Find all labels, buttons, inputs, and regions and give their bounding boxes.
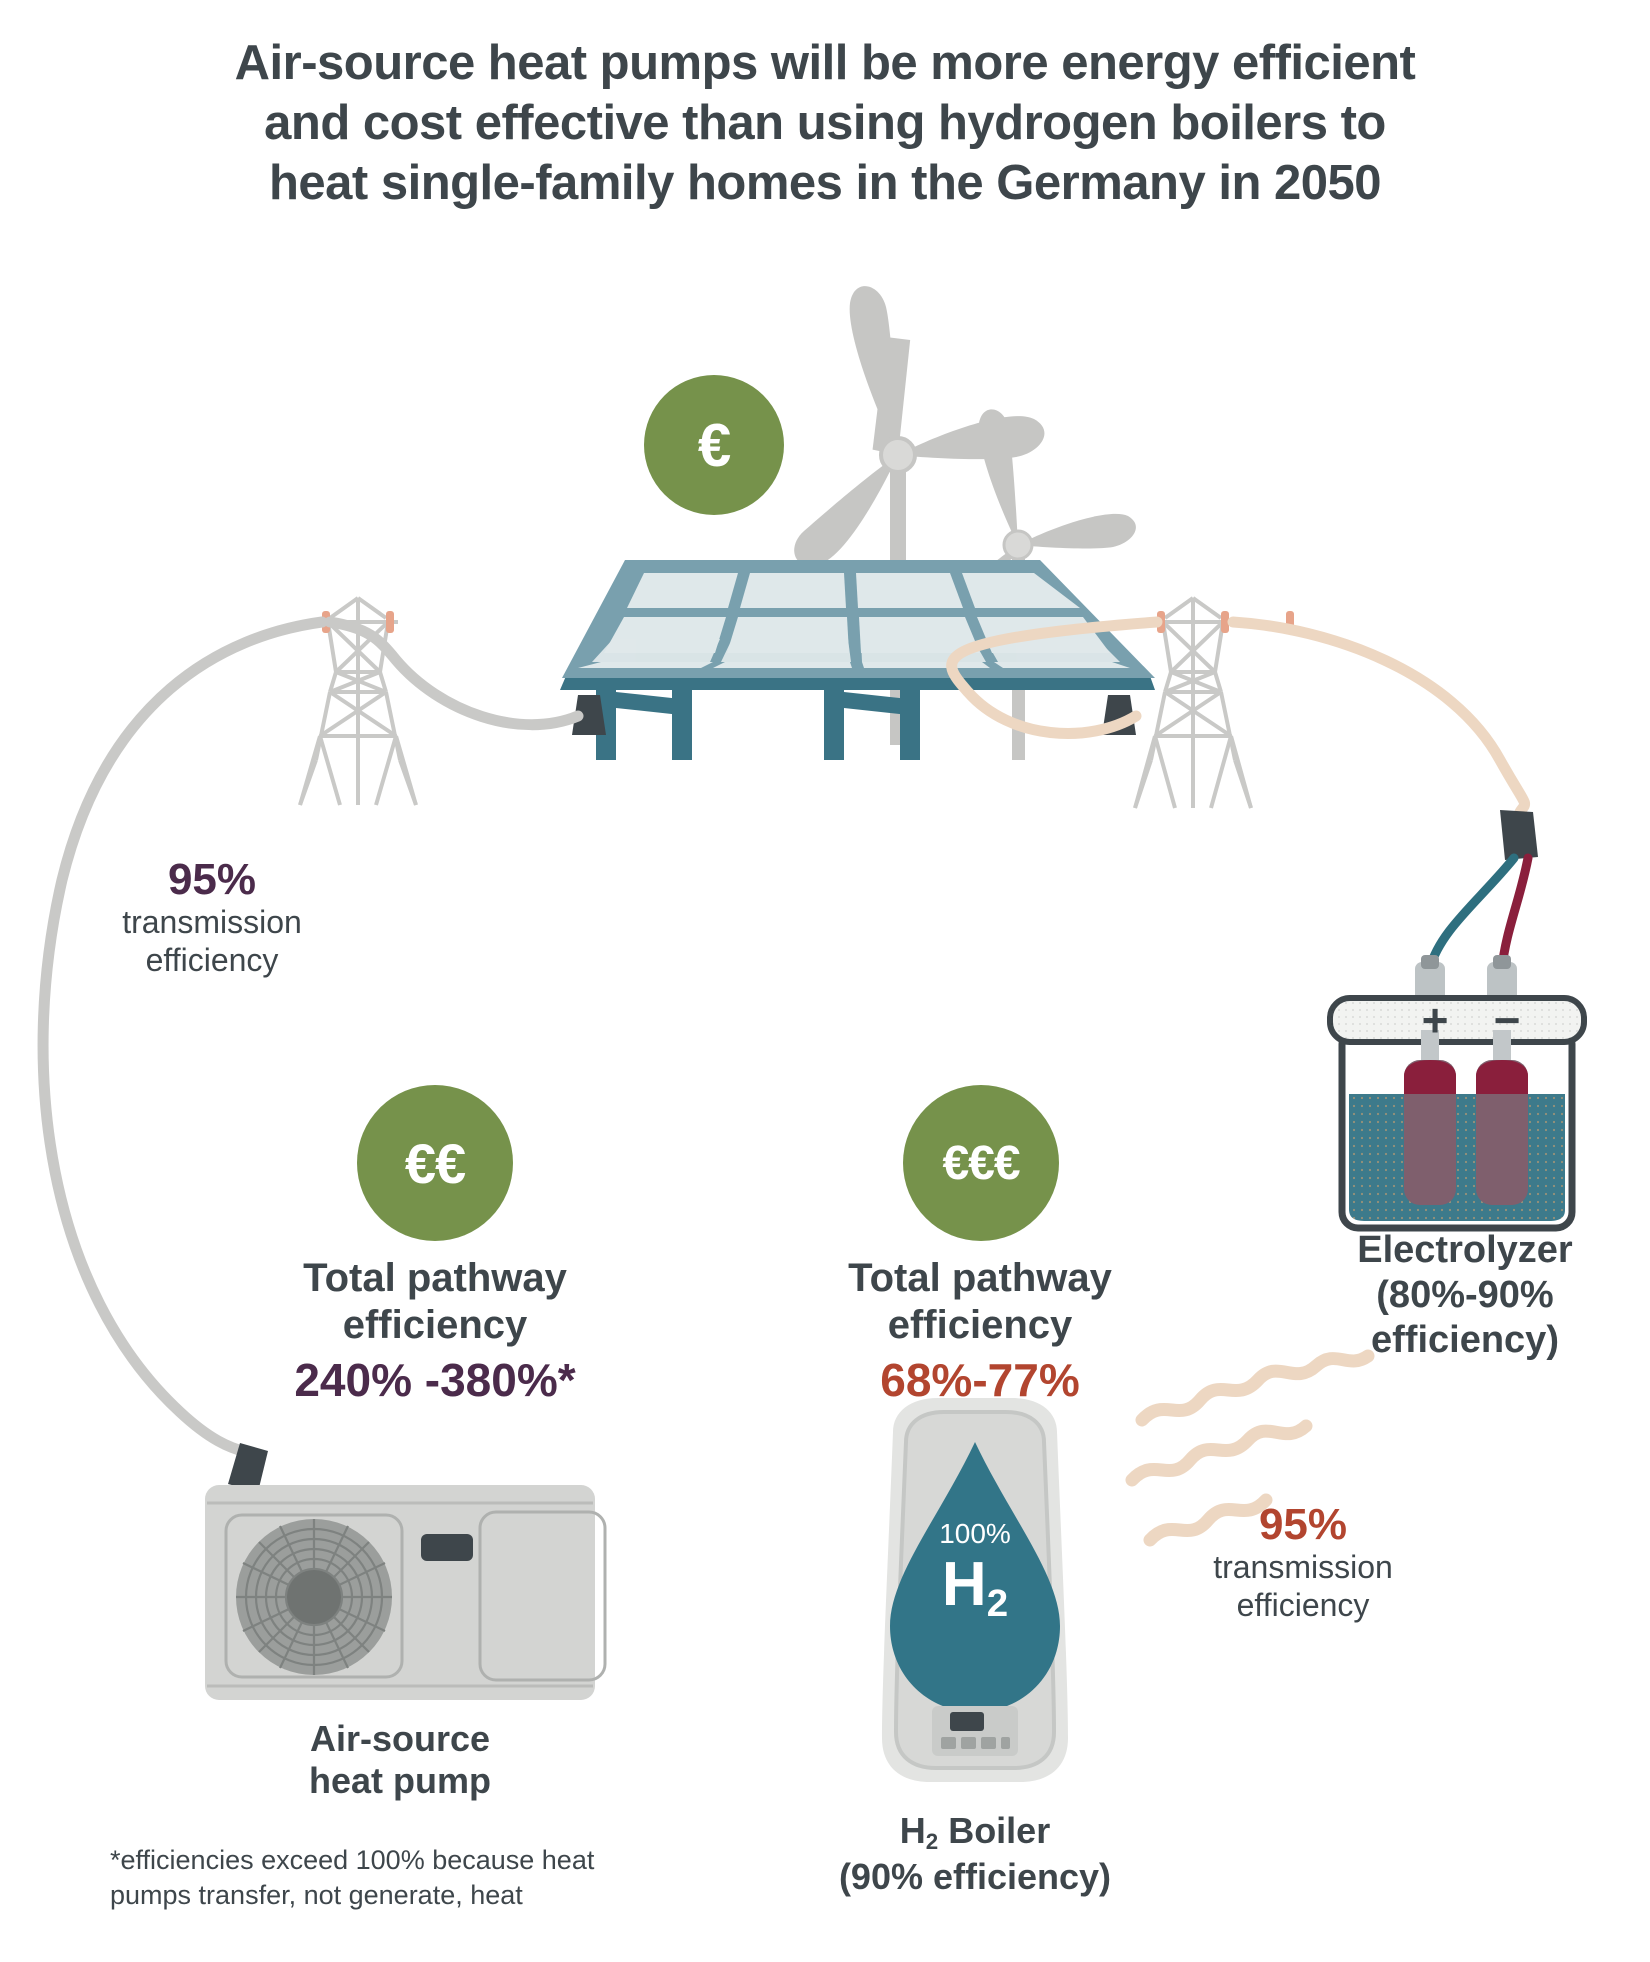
- hydrogen-pathway-block: Total pathway efficiency 68%-77%: [760, 1255, 1200, 1409]
- boiler-name: H2 Boiler: [780, 1810, 1170, 1856]
- hydrogen-pathway-header-2: efficiency: [760, 1302, 1200, 1349]
- heat-pump-pathway-block: Total pathway efficiency 240% -380%*: [205, 1255, 665, 1409]
- boiler-droplet-text: 100% H2: [890, 1520, 1060, 1624]
- boiler-name-h: H: [900, 1810, 926, 1851]
- electrolyzer-wire-negative: [1502, 858, 1528, 968]
- electrolyzer-minus-label: −: [1494, 994, 1521, 1046]
- right-transmission-label-1: transmission: [1148, 1549, 1458, 1587]
- heat-pump-label-block: Air-source heat pump: [205, 1718, 595, 1803]
- euro-badge-hydrogen-label: €€€: [942, 1136, 1019, 1191]
- heat-pump-label-1: Air-source: [205, 1718, 595, 1760]
- footnote-line-2: pumps transfer, not generate, heat: [110, 1878, 730, 1913]
- boiler-label-block: H2 Boiler (90% efficiency): [780, 1810, 1170, 1898]
- euro-badge-hydrogen: €€€: [903, 1085, 1059, 1241]
- electrolyzer-efficiency-1: (80%-90%: [1320, 1273, 1610, 1318]
- footnote-block: *efficiencies exceed 100% because heat p…: [110, 1843, 730, 1912]
- right-transmission-label-2: efficiency: [1148, 1587, 1458, 1625]
- euro-badge-top: €: [644, 375, 784, 515]
- heat-pump-label-2: heat pump: [205, 1760, 595, 1802]
- euro-badge-heat-pump: €€: [357, 1085, 513, 1241]
- euro-badge-top-label: €: [698, 411, 730, 480]
- right-transmission-value: 95%: [1148, 1500, 1458, 1549]
- left-transmission-block: 95% transmission efficiency: [62, 855, 362, 980]
- electrolyzer-plug-icon: [1500, 810, 1538, 860]
- electrolyzer-label-block: Electrolyzer (80%-90% efficiency): [1320, 1228, 1610, 1362]
- boiler-name-2: 2: [926, 1829, 938, 1854]
- euro-badge-heat-pump-label: €€: [405, 1131, 465, 1196]
- electrolyzer-efficiency-2: efficiency): [1320, 1318, 1610, 1363]
- electrolyzer-plus-sign: +: [1405, 1000, 1465, 1040]
- transmission-pylon-right-icon: [1135, 598, 1251, 808]
- air-source-heat-pump-icon: [205, 1485, 605, 1700]
- illustration-layer: [0, 0, 1650, 1962]
- heat-pump-pathway-header-2: efficiency: [205, 1302, 665, 1349]
- boiler-droplet-percent: 100%: [890, 1520, 1060, 1548]
- electrolyzer-name: Electrolyzer: [1320, 1228, 1610, 1273]
- boiler-droplet-symbol-2: 2: [987, 1582, 1008, 1625]
- left-transmission-label-2: efficiency: [62, 942, 362, 980]
- pylon-left-insulator-3: [386, 611, 394, 633]
- left-transmission-value: 95%: [62, 855, 362, 904]
- left-transmission-label-1: transmission: [62, 904, 362, 942]
- electrolyzer-plus-label: +: [1422, 994, 1449, 1046]
- footnote-line-1: *efficiencies exceed 100% because heat: [110, 1843, 730, 1878]
- boiler-efficiency: (90% efficiency): [780, 1856, 1170, 1898]
- heat-pump-pathway-value: 240% -380%*: [205, 1353, 665, 1408]
- boiler-droplet-symbol-h: H: [942, 1550, 987, 1619]
- hydrogen-pathway-header-1: Total pathway: [760, 1255, 1200, 1302]
- boiler-droplet-symbol: H2: [890, 1552, 1060, 1624]
- heat-pump-pathway-header-1: Total pathway: [205, 1255, 665, 1302]
- electrolyzer-minus-sign: −: [1477, 1000, 1537, 1040]
- right-transmission-block: 95% transmission efficiency: [1148, 1500, 1458, 1625]
- boiler-name-rest: Boiler: [938, 1810, 1050, 1851]
- hydrogen-pathway-value: 68%-77%: [760, 1353, 1200, 1408]
- cable-pylon-right-to-electrolyzer: [1233, 622, 1525, 812]
